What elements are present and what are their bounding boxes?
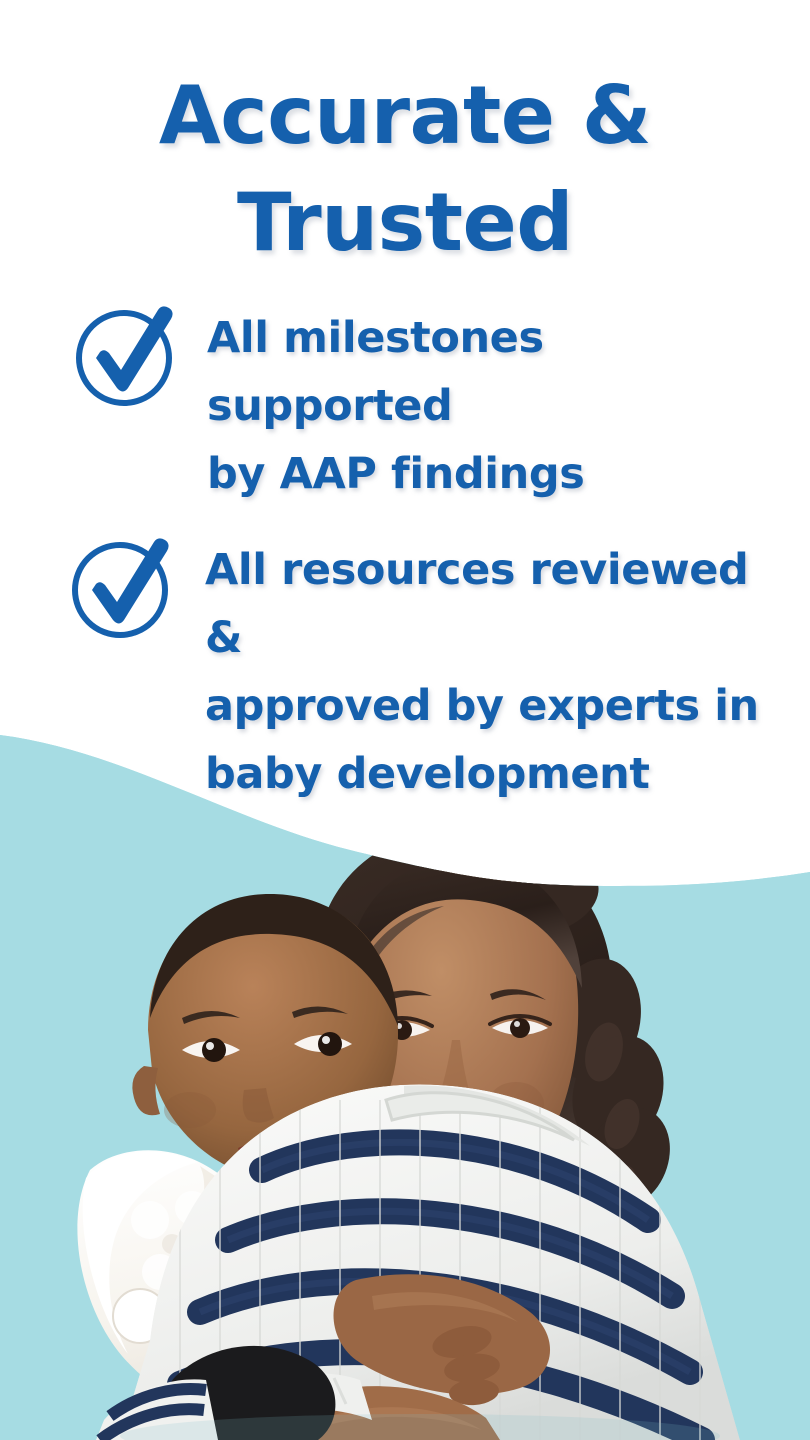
check-circle-icon <box>70 530 178 646</box>
page-title: Accurate & Trusted <box>0 62 810 276</box>
promo-screen: Accurate & Trusted All milestones suppor… <box>0 0 810 1440</box>
feature-item-1-label: All milestones supported by AAP findings <box>207 304 774 508</box>
wave-background <box>0 700 810 1440</box>
feature-item-1: All milestones supported by AAP findings <box>74 296 774 508</box>
check-circle-icon <box>74 298 182 414</box>
